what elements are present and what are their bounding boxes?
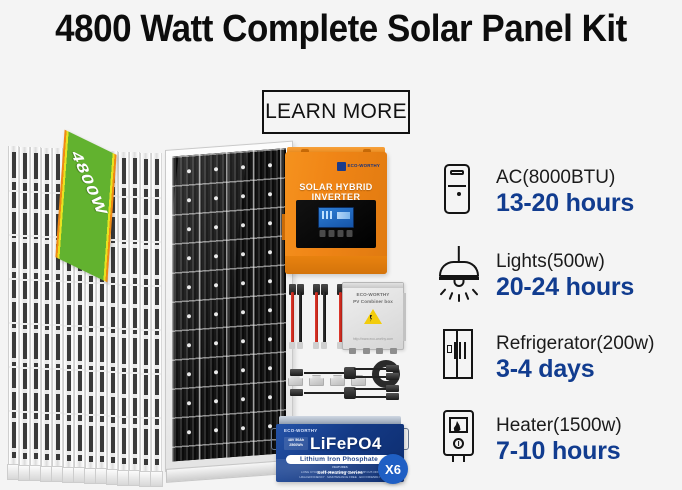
pv-cable-pair <box>288 284 308 346</box>
front-solar-panel <box>165 141 293 472</box>
inverter-brand-logo: ECO-WORTHY <box>337 162 381 171</box>
inverter-front-panel <box>296 200 376 248</box>
panel-edge-foot <box>150 471 163 487</box>
pv-combiner-box: ECO-WORTHY PV Combiner box http://www.ec… <box>342 282 404 350</box>
solar-hybrid-inverter: ECO-WORTHY SOLAR HYBRID INVERTER <box>285 152 387 274</box>
panel-edge <box>30 147 41 465</box>
appliance-runtime-list: AC(8000BTU) 13-20 hours Lights(500w) 20-… <box>436 156 676 482</box>
combiner-brand: ECO-WORTHY <box>357 292 390 297</box>
inverter-button[interactable] <box>320 230 326 237</box>
combiner-box-hinge <box>403 293 406 341</box>
inverter-button[interactable] <box>347 230 353 237</box>
battery-chemistry-label: LiFePO4 <box>310 434 382 454</box>
panel-edge <box>8 146 19 464</box>
refrigerator-icon <box>436 326 482 388</box>
high-voltage-warning-icon <box>364 309 382 324</box>
combiner-box-url: http://www.eco-worthy.com <box>343 337 403 341</box>
brand-mark-icon <box>337 162 346 171</box>
battery-spec: 48V 50Ah2560Wh <box>284 437 308 450</box>
appliance-row-refrigerator: Refrigerator(200w) 3-4 days <box>436 322 676 392</box>
y-branch-cable <box>288 386 406 401</box>
combiner-cable-glands <box>349 348 397 354</box>
panel-edge <box>118 152 129 470</box>
appliance-runtime: 20-24 hours <box>496 273 634 301</box>
appliance-row-heater: Heater(1500w) 7-10 hours <box>436 404 676 474</box>
y-branch-cable-group <box>288 366 406 408</box>
appliance-label: Heater(1500w) <box>496 415 622 436</box>
combiner-box-lid <box>343 283 403 288</box>
panel-edge <box>19 147 30 465</box>
panel-edge <box>140 153 151 471</box>
appliance-row-ac: AC(8000BTU) 13-20 hours <box>436 156 676 226</box>
appliance-runtime: 3-4 days <box>496 355 654 383</box>
appliance-label: Refrigerator(200w) <box>496 333 654 354</box>
air-conditioner-icon <box>436 160 482 222</box>
learn-more-button[interactable]: LEARN MORE <box>262 90 410 134</box>
appliance-label: Lights(500w) <box>496 251 634 272</box>
lifepo4-battery: ECO-WORTHY 48V 50Ah2560Wh LiFePO4 Lithiu… <box>276 416 404 482</box>
cell-busbar-nodes <box>172 148 286 461</box>
combiner-name: PV Combiner box <box>353 299 393 304</box>
combiner-box-label: ECO-WORTHY PV Combiner box <box>343 292 403 306</box>
wattage-ribbon: 4800W <box>55 130 116 283</box>
inverter-lower-cover <box>285 256 387 274</box>
appliance-label: AC(8000BTU) <box>496 167 634 188</box>
battery-features: FEATURES LONG CYCLE LIFE · BUILT-IN BMS … <box>292 465 388 480</box>
appliance-runtime: 7-10 hours <box>496 437 622 465</box>
panel-edge <box>151 153 162 471</box>
quantity-badge: X6 <box>378 454 408 484</box>
water-heater-icon <box>436 408 482 470</box>
product-infographic: 4800 Watt Complete Solar Panel Kit LEARN… <box>0 0 682 490</box>
inverter-model-label: SOLAR HYBRID INVERTER <box>285 182 387 202</box>
inverter-button[interactable] <box>338 230 344 237</box>
appliance-runtime: 13-20 hours <box>496 189 634 217</box>
inverter-side-vent <box>282 214 285 240</box>
inverter-body: ECO-WORTHY SOLAR HYBRID INVERTER <box>285 152 387 274</box>
panel-edge <box>41 148 52 466</box>
inverter-lcd-screen <box>318 207 354 228</box>
pv-cable-pair <box>312 284 332 346</box>
panel-edge <box>129 152 140 470</box>
pendant-light-icon <box>436 244 482 306</box>
battery-brand: ECO-WORTHY <box>284 428 318 433</box>
page-title: 4800 Watt Complete Solar Panel Kit <box>27 8 654 51</box>
battery-chemistry-full: Lithium Iron Phosphate <box>286 455 392 464</box>
inverter-button[interactable] <box>329 230 335 237</box>
y-branch-cable <box>288 366 406 381</box>
appliance-row-lights: Lights(500w) 20-24 hours <box>436 240 676 310</box>
features-heading: FEATURES <box>332 465 347 469</box>
inverter-button-row[interactable] <box>320 230 353 237</box>
solar-panel-stack: 4800W <box>8 146 293 484</box>
panel-glass <box>172 148 286 461</box>
inverter-brand-name: ECO-WORTHY <box>348 163 381 168</box>
